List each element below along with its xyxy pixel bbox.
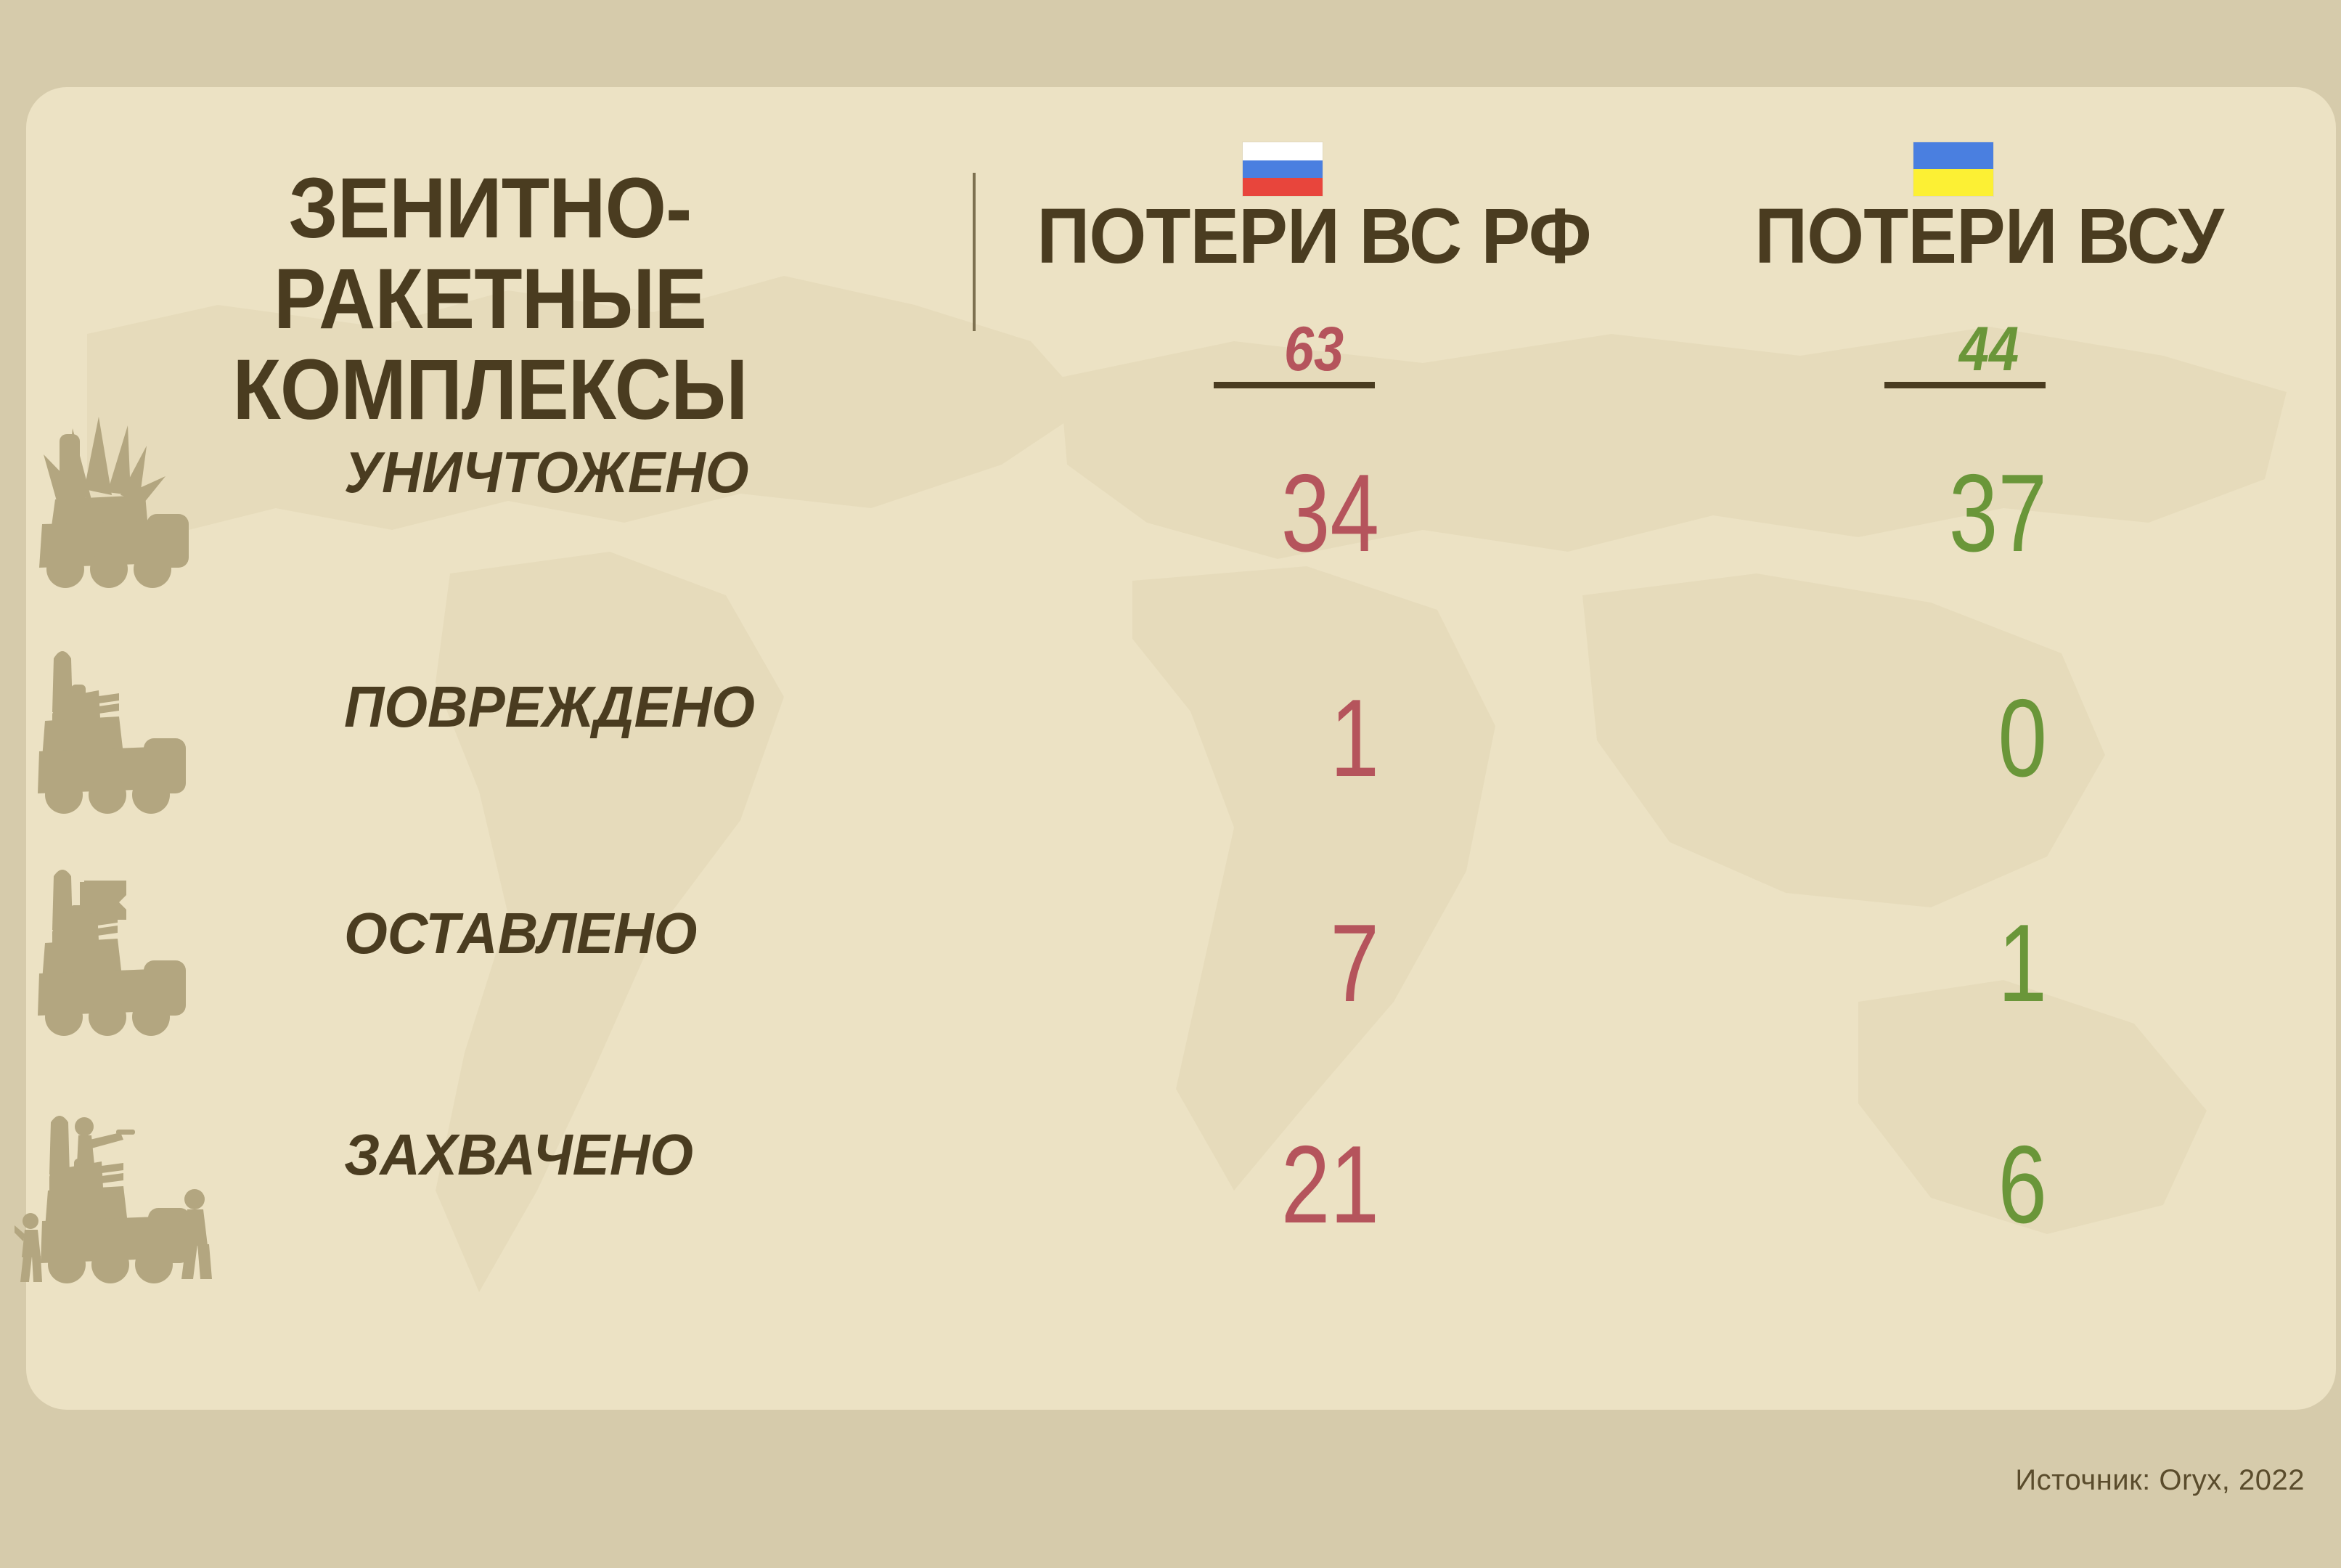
header-divider [973,173,976,331]
sam-damaged-icon [38,642,328,824]
total-russia-underline [1214,382,1375,388]
row-value-russia: 34 [1060,450,1379,577]
row-value-ukraine: 6 [1729,1122,2047,1249]
page-title: ЗЕНИТНО-РАКЕТНЫЕ КОМПЛЕКСЫ [79,163,901,436]
column-header-russia: ПОТЕРИ ВС РФ [1013,190,1614,281]
total-ukraine-underline [1884,382,2046,388]
infographic-frame: ЗЕНИТНО-РАКЕТНЫЕ КОМПЛЕКСЫ ПОТЕРИ ВС РФ … [0,0,2341,1568]
column-header-ukraine: ПОТЕРИ ВСУ [1688,190,2289,281]
sam-captured-icon [15,1089,327,1292]
row-value-ukraine: 37 [1729,450,2047,577]
source-attribution: Источник: Oryx, 2022 [2015,1464,2305,1497]
sam-abandoned-icon [38,867,328,1049]
row-label: УНИЧТОЖЕНО [344,439,748,506]
ukraine-flag-icon [1913,142,1993,196]
row-value-ukraine: 0 [1729,675,2047,802]
total-ukraine: 44 [1715,314,2264,385]
row-value-ukraine: 1 [1729,900,2047,1027]
sam-destroyed-icon [38,414,328,595]
row-label: ЗАХВАЧЕНО [344,1122,693,1188]
row-value-russia: 7 [1060,900,1379,1027]
row-value-russia: 21 [1060,1122,1379,1249]
row-label: ОСТАВЛЕНО [344,900,697,967]
row-value-russia: 1 [1060,675,1379,802]
row-label: ПОВРЕЖДЕНО [344,674,755,740]
russia-flag-icon [1243,142,1323,196]
total-russia: 63 [1039,314,1589,385]
